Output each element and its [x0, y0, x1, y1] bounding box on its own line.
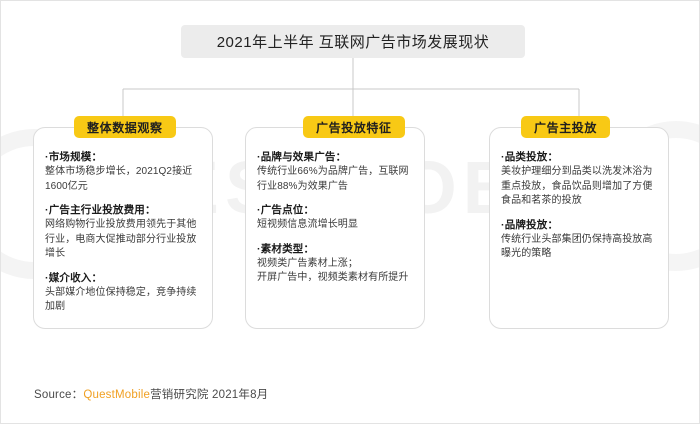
source-line: Source：QuestMobile营销研究院 2021年8月: [34, 386, 268, 402]
slide-canvas: QUESTMOBILE 2021年上半年 互联网广告市场发展现状 ·市场规模： …: [0, 0, 700, 424]
section-text: 头部媒介地位保持稳定，竞争持续加剧: [45, 286, 201, 315]
section-item: ·素材类型： 视频类广告素材上涨； 开屏广告中，视频类素材有所提升: [257, 242, 413, 286]
pillar-card-3: ·品类投放： 美妆护理细分到品类以洗发沐浴为重点投放，食品饮品则增加了方便食品和…: [489, 127, 669, 329]
pillar-badge-2-label: 广告投放特征: [316, 119, 392, 136]
page-title: 2021年上半年 互联网广告市场发展现状: [217, 31, 490, 52]
pillar-card-1: ·市场规模： 整体市场稳步增长，2021Q2接近1600亿元 ·广告主行业投放费…: [33, 127, 213, 329]
section-text: 短视频信息流增长明显: [257, 218, 413, 233]
section-item: ·品牌与效果广告： 传统行业66%为品牌广告，互联网行业88%为效果广告: [257, 150, 413, 194]
section-heading: ·品牌与效果广告：: [257, 150, 413, 165]
section-heading: ·品牌投放：: [501, 218, 657, 233]
section-heading: ·广告点位：: [257, 203, 413, 218]
section-heading: ·广告主行业投放费用：: [45, 203, 201, 218]
pillar-badge-1-label: 整体数据观察: [87, 119, 163, 136]
pillar-card-2-body: ·品牌与效果广告： 传统行业66%为品牌广告，互联网行业88%为效果广告 ·广告…: [246, 128, 424, 294]
section-heading: ·媒介收入：: [45, 271, 201, 286]
section-item: ·媒介收入： 头部媒介地位保持稳定，竞争持续加剧: [45, 271, 201, 315]
section-heading: ·素材类型：: [257, 242, 413, 257]
pillar-badge-3: 广告主投放: [521, 116, 610, 138]
section-item: ·广告点位： 短视频信息流增长明显: [257, 203, 413, 233]
section-text: 美妆护理细分到品类以洗发沐浴为重点投放，食品饮品则增加了方便食品和茗茶的投放: [501, 165, 657, 209]
section-item: ·品牌投放： 传统行业头部集团仍保持高投放高曝光的策略: [501, 218, 657, 262]
pillar-badge-1: 整体数据观察: [74, 116, 176, 138]
section-heading: ·市场规模：: [45, 150, 201, 165]
source-suffix: 营销研究院 2021年8月: [150, 389, 268, 401]
section-item: ·品类投放： 美妆护理细分到品类以洗发沐浴为重点投放，食品饮品则增加了方便食品和…: [501, 150, 657, 209]
section-item: ·市场规模： 整体市场稳步增长，2021Q2接近1600亿元: [45, 150, 201, 194]
section-text: 视频类广告素材上涨； 开屏广告中，视频类素材有所提升: [257, 257, 413, 286]
pillar-badge-3-label: 广告主投放: [534, 119, 597, 136]
section-text: 传统行业头部集团仍保持高投放高曝光的策略: [501, 233, 657, 262]
section-text: 传统行业66%为品牌广告，互联网行业88%为效果广告: [257, 165, 413, 194]
pillar-badge-2: 广告投放特征: [303, 116, 405, 138]
section-text: 整体市场稳步增长，2021Q2接近1600亿元: [45, 165, 201, 194]
section-heading: ·品类投放：: [501, 150, 657, 165]
pillar-card-1-body: ·市场规模： 整体市场稳步增长，2021Q2接近1600亿元 ·广告主行业投放费…: [34, 128, 212, 323]
pillar-card-3-body: ·品类投放： 美妆护理细分到品类以洗发沐浴为重点投放，食品饮品则增加了方便食品和…: [490, 128, 668, 270]
pillar-card-2: ·品牌与效果广告： 传统行业66%为品牌广告，互联网行业88%为效果广告 ·广告…: [245, 127, 425, 329]
section-item: ·广告主行业投放费用： 网络购物行业投放费用领先于其他行业，电商大促推动部分行业…: [45, 203, 201, 262]
source-label: Source：: [34, 389, 83, 401]
source-brand: QuestMobile: [83, 389, 150, 401]
page-title-box: 2021年上半年 互联网广告市场发展现状: [181, 25, 525, 58]
section-text: 网络购物行业投放费用领先于其他行业，电商大促推动部分行业投放增长: [45, 218, 201, 262]
